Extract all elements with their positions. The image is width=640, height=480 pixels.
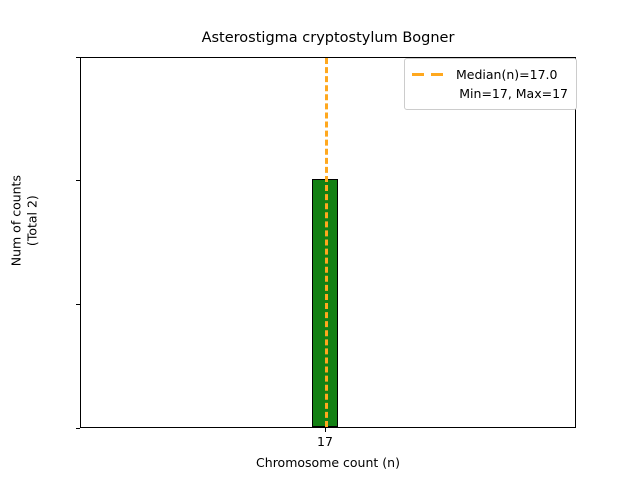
legend-entry-minmax: Min=17, Max=17 xyxy=(411,84,568,103)
chart-figure: Asterostigma cryptostylum Bogner 0 1 2 3… xyxy=(0,0,640,480)
chart-legend: Median(n)=17.0 Min=17, Max=17 xyxy=(404,58,577,110)
dashed-line-icon xyxy=(411,69,449,81)
x-tick-label-17: 17 xyxy=(295,434,355,449)
plot-area xyxy=(80,57,576,428)
legend-entry-median: Median(n)=17.0 xyxy=(411,65,568,84)
legend-label-minmax: Min=17, Max=17 xyxy=(459,86,568,101)
legend-label-median: Median(n)=17.0 xyxy=(456,67,557,82)
x-axis-label: Chromosome count (n) xyxy=(80,455,576,470)
chart-title: Asterostigma cryptostylum Bogner xyxy=(80,30,576,46)
x-tick-mark-17 xyxy=(325,428,326,432)
y-axis-label: Num of counts (Total 2) xyxy=(8,91,39,351)
median-line xyxy=(325,58,328,427)
